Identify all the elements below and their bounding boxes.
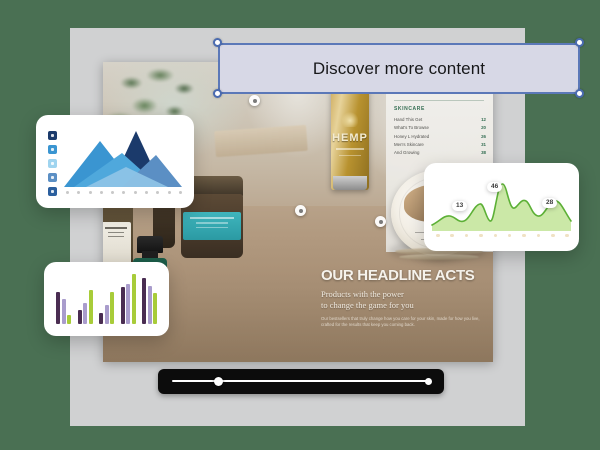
data-label-3: 28 [542, 198, 557, 208]
toc-label: Hand This Get [394, 116, 422, 124]
resize-handle-bottom-right[interactable] [575, 89, 584, 98]
line-chart-card[interactable]: 13 46 28 [424, 163, 579, 251]
chart-legend [48, 131, 57, 196]
toc-page: 31 [481, 141, 486, 149]
contents-list: Hand This Get 12 What's To Browse 20 Hon… [394, 116, 486, 158]
legend-swatch-1 [48, 131, 57, 140]
hotspot-shea[interactable] [375, 216, 386, 227]
legend-swatch-5 [48, 187, 57, 196]
hotspot-jar[interactable] [295, 205, 306, 216]
text-box-element[interactable]: Discover more content [218, 43, 580, 94]
subheadline: Products with the power to change the ga… [321, 289, 489, 312]
scrubber-track[interactable] [172, 380, 430, 382]
timeline-scrubber[interactable] [158, 369, 444, 394]
toc-page: 20 [481, 124, 486, 132]
toc-label: What's To Browse [394, 124, 429, 132]
bar-group [121, 272, 136, 324]
list-item: And Growing 38 [394, 149, 486, 157]
contents-divider [394, 100, 484, 101]
legend-swatch-2 [48, 145, 57, 154]
hotspot-tube[interactable] [249, 95, 260, 106]
list-item: Honey L Hydrated 26 [394, 133, 486, 141]
toc-label: Honey L Hydrated [394, 133, 429, 141]
page-title: OUR HEADLINE ACTS [321, 268, 489, 284]
data-label-1: 13 [452, 201, 467, 211]
resize-handle-top-right[interactable] [575, 38, 584, 47]
toc-page: 26 [481, 133, 486, 141]
bar-group [142, 272, 157, 324]
legend-swatch-4 [48, 173, 57, 182]
bar-group [78, 272, 93, 324]
toc-page: 38 [481, 149, 486, 157]
resize-handle-bottom-left[interactable] [213, 89, 222, 98]
bar-chart-plot [56, 272, 157, 324]
resize-handle-top-left[interactable] [213, 38, 222, 47]
body-copy: Our bestsellers that truly change how yo… [321, 316, 489, 329]
bar-group [99, 272, 114, 324]
mountain-chart-axis [66, 191, 182, 194]
bar-group [56, 272, 71, 324]
green-chart-axis [436, 234, 569, 238]
bar-chart-card[interactable] [44, 262, 169, 336]
list-item: What's To Browse 20 [394, 124, 486, 132]
hemp-label: HEMP [331, 132, 369, 144]
headline-block: OUR HEADLINE ACTS Products with the powe… [321, 268, 489, 329]
toc-label: And Growing [394, 149, 419, 157]
contents-section-label: SKINCARE [394, 106, 425, 112]
subheadline-line-1: Products with the power [321, 289, 489, 300]
hemp-leaf-icon [342, 111, 358, 127]
data-label-2: 46 [487, 182, 502, 192]
scrubber-thumb[interactable] [214, 377, 223, 386]
toc-page: 12 [481, 116, 486, 124]
toc-label: Men's Skincare [394, 141, 424, 149]
list-item: Men's Skincare 31 [394, 141, 486, 149]
subheadline-line-2: to change the game for you [321, 300, 489, 311]
text-box-value: Discover more content [313, 59, 485, 79]
mountain-chart-svg [64, 123, 182, 187]
legend-swatch-3 [48, 159, 57, 168]
scrubber-end-marker[interactable] [425, 378, 432, 385]
mountain-chart-card[interactable] [36, 115, 194, 208]
editor-stage: CONTENTS SKINCARE Hand This Get 12 What'… [0, 0, 600, 450]
product-tube-hemp: HEMP [331, 86, 369, 190]
list-item: Hand This Get 12 [394, 116, 486, 124]
